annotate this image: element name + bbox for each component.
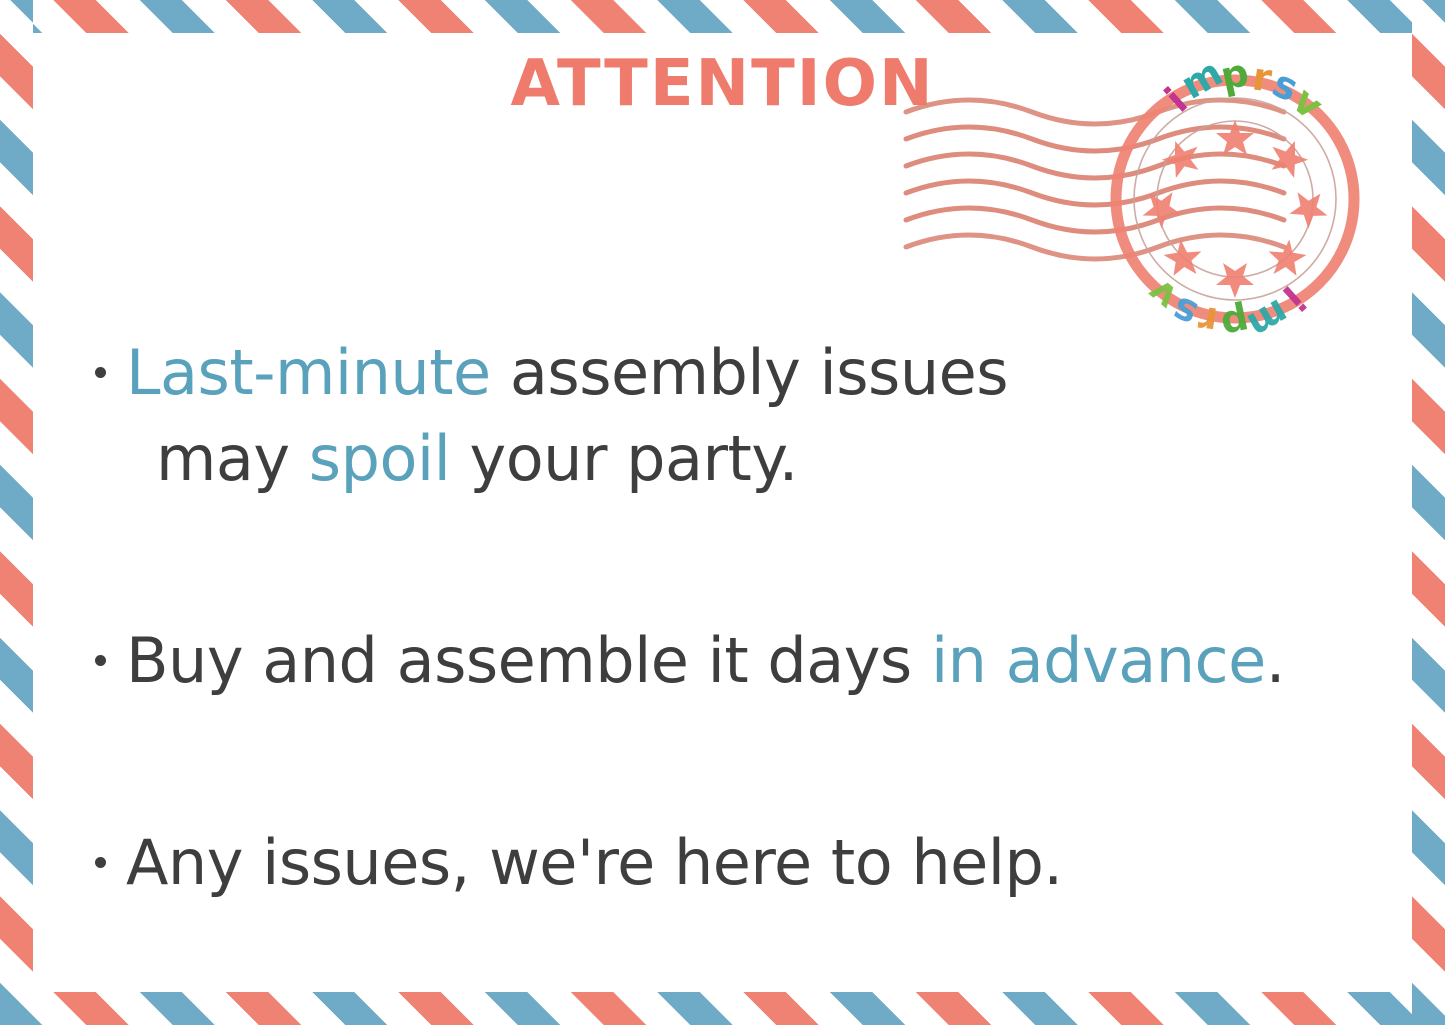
bullet-3-text: Any issues, we're here to help. (126, 826, 1063, 899)
list-item: Last-minute assembly issues may spoil yo… (95, 330, 1395, 502)
bullet-2-text-1: Buy and assemble it days (126, 624, 931, 697)
airmail-border-bottom (0, 992, 1445, 1025)
postmark-stamp-icon: i m p r s v i m p r s v (898, 52, 1368, 342)
bullet-1-text-1: assembly issues (510, 336, 1008, 409)
notice-bullet-list: Last-minute assembly issues may spoil yo… (95, 330, 1395, 906)
airmail-border-left (0, 0, 33, 1025)
postmark-wave-lines (906, 100, 1284, 259)
bullet-1-highlight-2: spoil (309, 422, 451, 495)
bullet-2-highlight: in advance (931, 624, 1266, 697)
notice-card: ATTENTION (0, 0, 1445, 1025)
bullet-1-line-2: may spoil your party. (95, 416, 1395, 502)
list-item: Any issues, we're here to help. (95, 820, 1395, 906)
bullet-dot-icon (95, 655, 106, 666)
list-item: Buy and assemble it days in advance. (95, 618, 1395, 704)
airmail-border-top (0, 0, 1445, 33)
bullet-dot-icon (95, 367, 106, 378)
bullet-dot-icon (95, 857, 106, 868)
bullet-2-text-2: . (1266, 624, 1285, 697)
bullet-1-highlight-1: Last-minute (126, 336, 510, 409)
airmail-border-right (1412, 0, 1445, 1025)
bullet-1-text-2: may (156, 422, 309, 495)
bullet-1-text-3: your party. (450, 422, 798, 495)
